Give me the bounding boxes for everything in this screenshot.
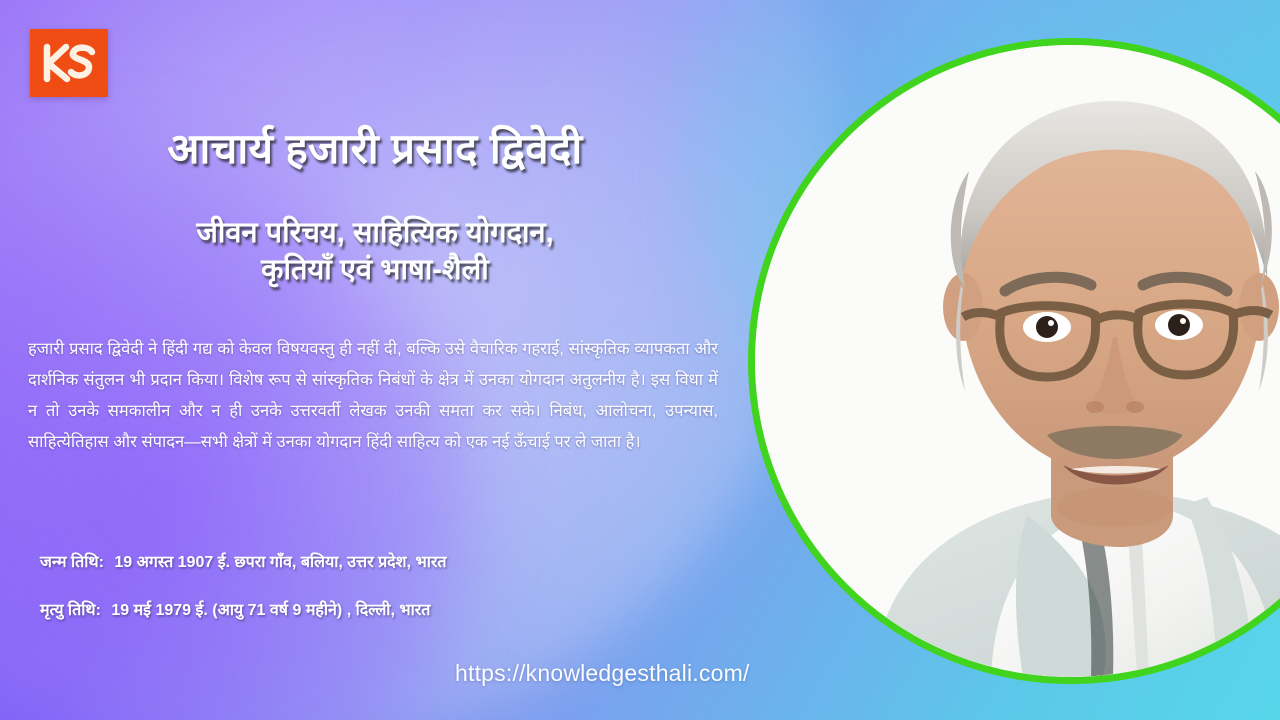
website-url[interactable]: https://knowledgesthali.com/ xyxy=(455,660,750,687)
fact-death-value: 19 मई 1979 ई. (आयु 71 वर्ष 9 महीने) , दि… xyxy=(111,602,430,619)
portrait-image xyxy=(755,45,1280,677)
subtitle-line-1: जीवन परिचय, साहित्यिक योगदान, xyxy=(0,215,750,252)
fact-birth: जन्म तिथि: 19 अगस्त 1907 ई. छपरा गाँव, ब… xyxy=(40,552,740,574)
subtitle-line-2: कृतियाँ एवं भाषा-शैली xyxy=(0,252,750,289)
fact-birth-label: जन्म तिथि: xyxy=(40,554,104,571)
poster-canvas: आचार्य हजारी प्रसाद द्विवेदी जीवन परिचय,… xyxy=(0,0,1280,720)
page-subtitle: जीवन परिचय, साहित्यिक योगदान, कृतियाँ एव… xyxy=(0,215,750,288)
description-paragraph: हजारी प्रसाद द्विवेदी ने हिंदी गद्य को क… xyxy=(28,334,718,458)
fact-death-label: मृत्यु तिथि: xyxy=(40,602,101,619)
fact-list: जन्म तिथि: 19 अगस्त 1907 ई. छपरा गाँव, ब… xyxy=(40,552,740,647)
page-title: आचार्य हजारी प्रसाद द्विवेदी xyxy=(0,125,750,172)
fact-birth-value: 19 अगस्त 1907 ई. छपरा गाँव, बलिया, उत्तर… xyxy=(114,554,446,571)
content-column: आचार्य हजारी प्रसाद द्विवेदी जीवन परिचय,… xyxy=(0,0,760,720)
fact-death: मृत्यु तिथि: 19 मई 1979 ई. (आयु 71 वर्ष … xyxy=(40,600,740,622)
portrait-circle xyxy=(748,38,1280,684)
portrait-illustration-icon xyxy=(755,45,1280,677)
